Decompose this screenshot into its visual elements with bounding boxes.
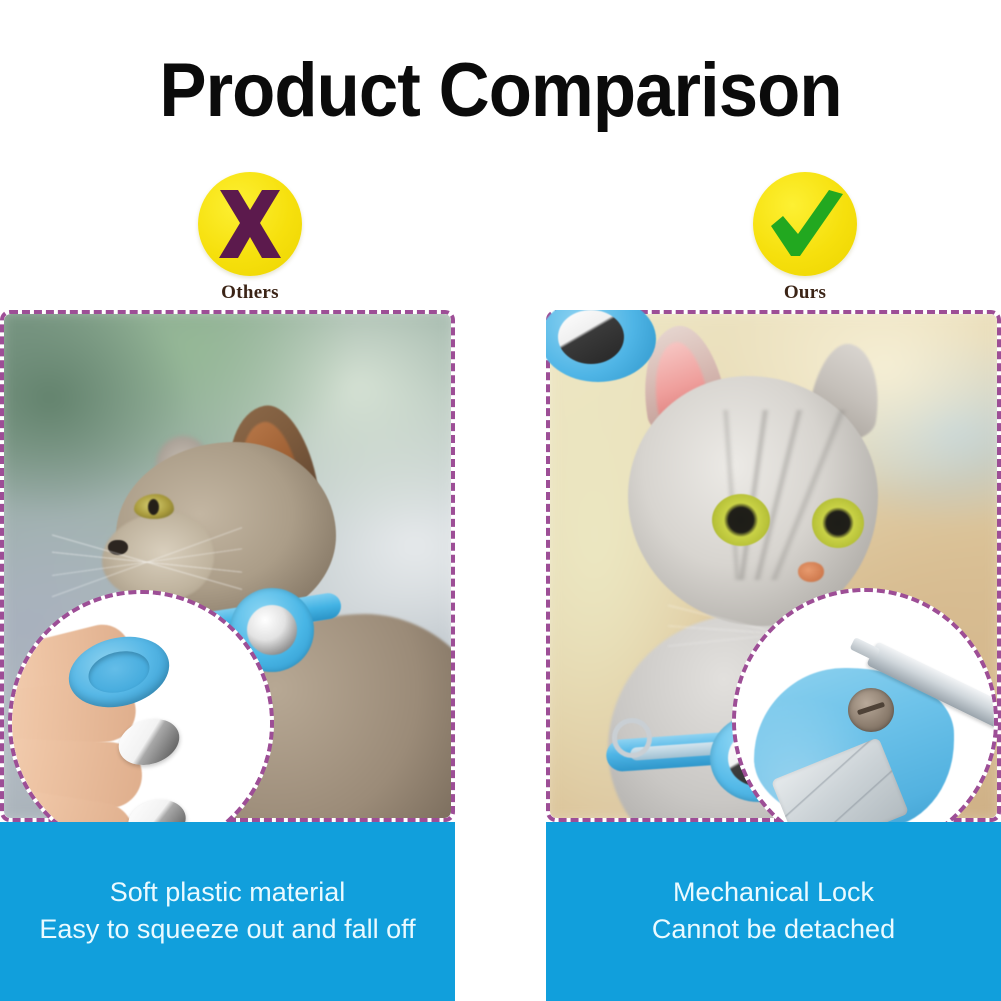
badge-label-others: Others xyxy=(160,282,340,304)
detail-inset-ours xyxy=(732,588,998,854)
caption-bar-ours: Mechanical Lock Cannot be detached xyxy=(546,822,1001,1001)
caption-line: Soft plastic material xyxy=(110,874,346,911)
badge-block-others: Others xyxy=(160,172,340,304)
page-title: Product Comparison xyxy=(35,48,966,134)
collar-d-ring xyxy=(612,718,652,758)
check-mark-icon xyxy=(753,172,857,276)
cat-stripes xyxy=(654,410,864,580)
badge-label-ours: Ours xyxy=(715,282,895,304)
caption-line: Cannot be detached xyxy=(652,911,895,948)
x-mark-icon xyxy=(198,172,302,276)
metal-screw xyxy=(848,688,894,732)
badge-block-ours: Ours xyxy=(715,172,895,304)
caption-line: Easy to squeeze out and fall off xyxy=(39,911,415,948)
cat-eye-right xyxy=(812,498,864,548)
detail-inset-others xyxy=(8,590,274,856)
caption-bar-others: Soft plastic material Easy to squeeze ou… xyxy=(0,822,455,1001)
badge-circle-others xyxy=(198,172,302,276)
cat-eye-left xyxy=(712,494,770,546)
comparison-panel-ours: Mechanical Lock Cannot be detached xyxy=(546,310,1001,1001)
badge-circle-ours xyxy=(753,172,857,276)
comparison-panel-others: Soft plastic material Easy to squeeze ou… xyxy=(0,310,455,1001)
caption-line: Mechanical Lock xyxy=(673,874,874,911)
